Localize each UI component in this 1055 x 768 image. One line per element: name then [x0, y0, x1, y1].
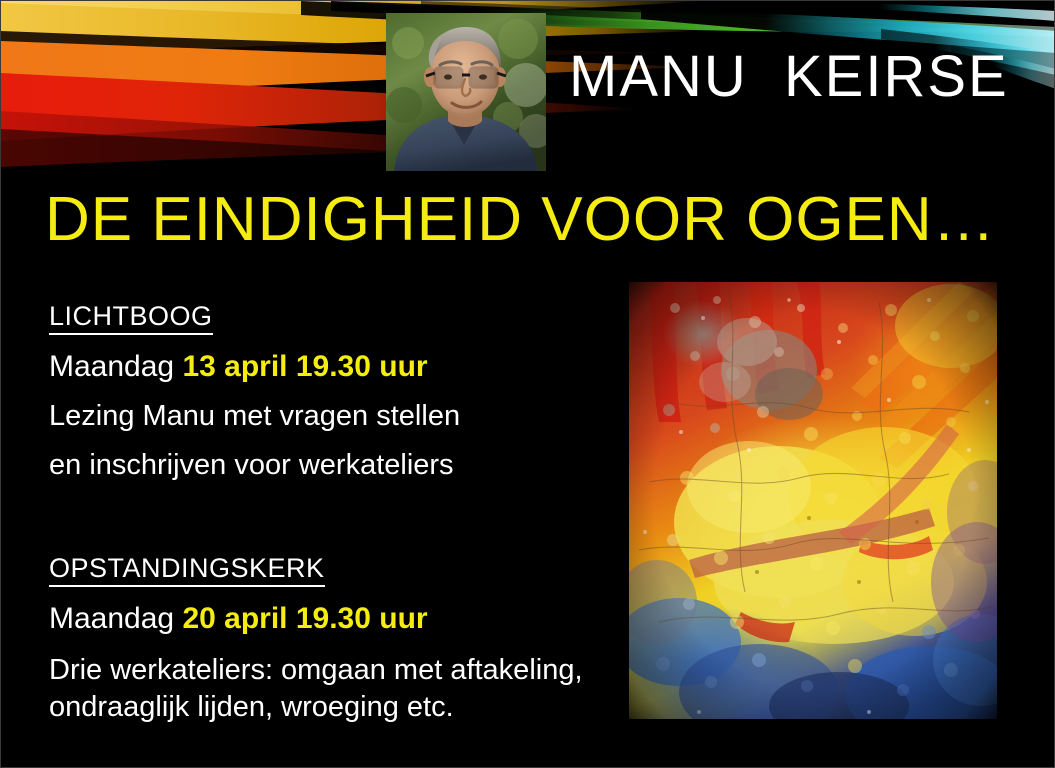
- speaker-name: MANU KEIRSE: [569, 48, 1009, 106]
- event-date-line: Maandag 13 april 19.30 uur: [49, 349, 460, 385]
- date-prefix: Maandag: [49, 602, 182, 635]
- artwork-image: [629, 282, 997, 719]
- venue-name: OPSTANDINGSKERK: [49, 553, 325, 587]
- portrait-photo: [386, 13, 546, 171]
- event-block-opstandingskerk: OPSTANDINGSKERK Maandag 20 april 19.30 u…: [49, 553, 583, 725]
- event-block-lichtboog: LICHTBOOG Maandag 13 april 19.30 uur Lez…: [49, 301, 460, 483]
- event-detail-line: Drie werkateliers: omgaan met aftakeling…: [49, 653, 583, 688]
- date-accent: 20 april 19.30 uur: [182, 602, 427, 635]
- poster-canvas: MANU KEIRSE DE EINDIGHEID VOOR OGEN…: [0, 0, 1055, 768]
- event-date-line: Maandag 20 april 19.30 uur: [49, 601, 583, 637]
- event-detail-line: ondraaglijk lijden, wroeging etc.: [49, 690, 583, 725]
- venue-name: LICHTBOOG: [49, 301, 213, 335]
- date-prefix: Maandag: [49, 350, 182, 383]
- date-accent: 13 april 19.30 uur: [182, 350, 427, 383]
- page-title: DE EINDIGHEID VOOR OGEN…: [45, 187, 996, 252]
- event-detail-line: Lezing Manu met vragen stellen: [49, 399, 460, 434]
- event-detail-line: en inschrijven voor werkateliers: [49, 448, 460, 483]
